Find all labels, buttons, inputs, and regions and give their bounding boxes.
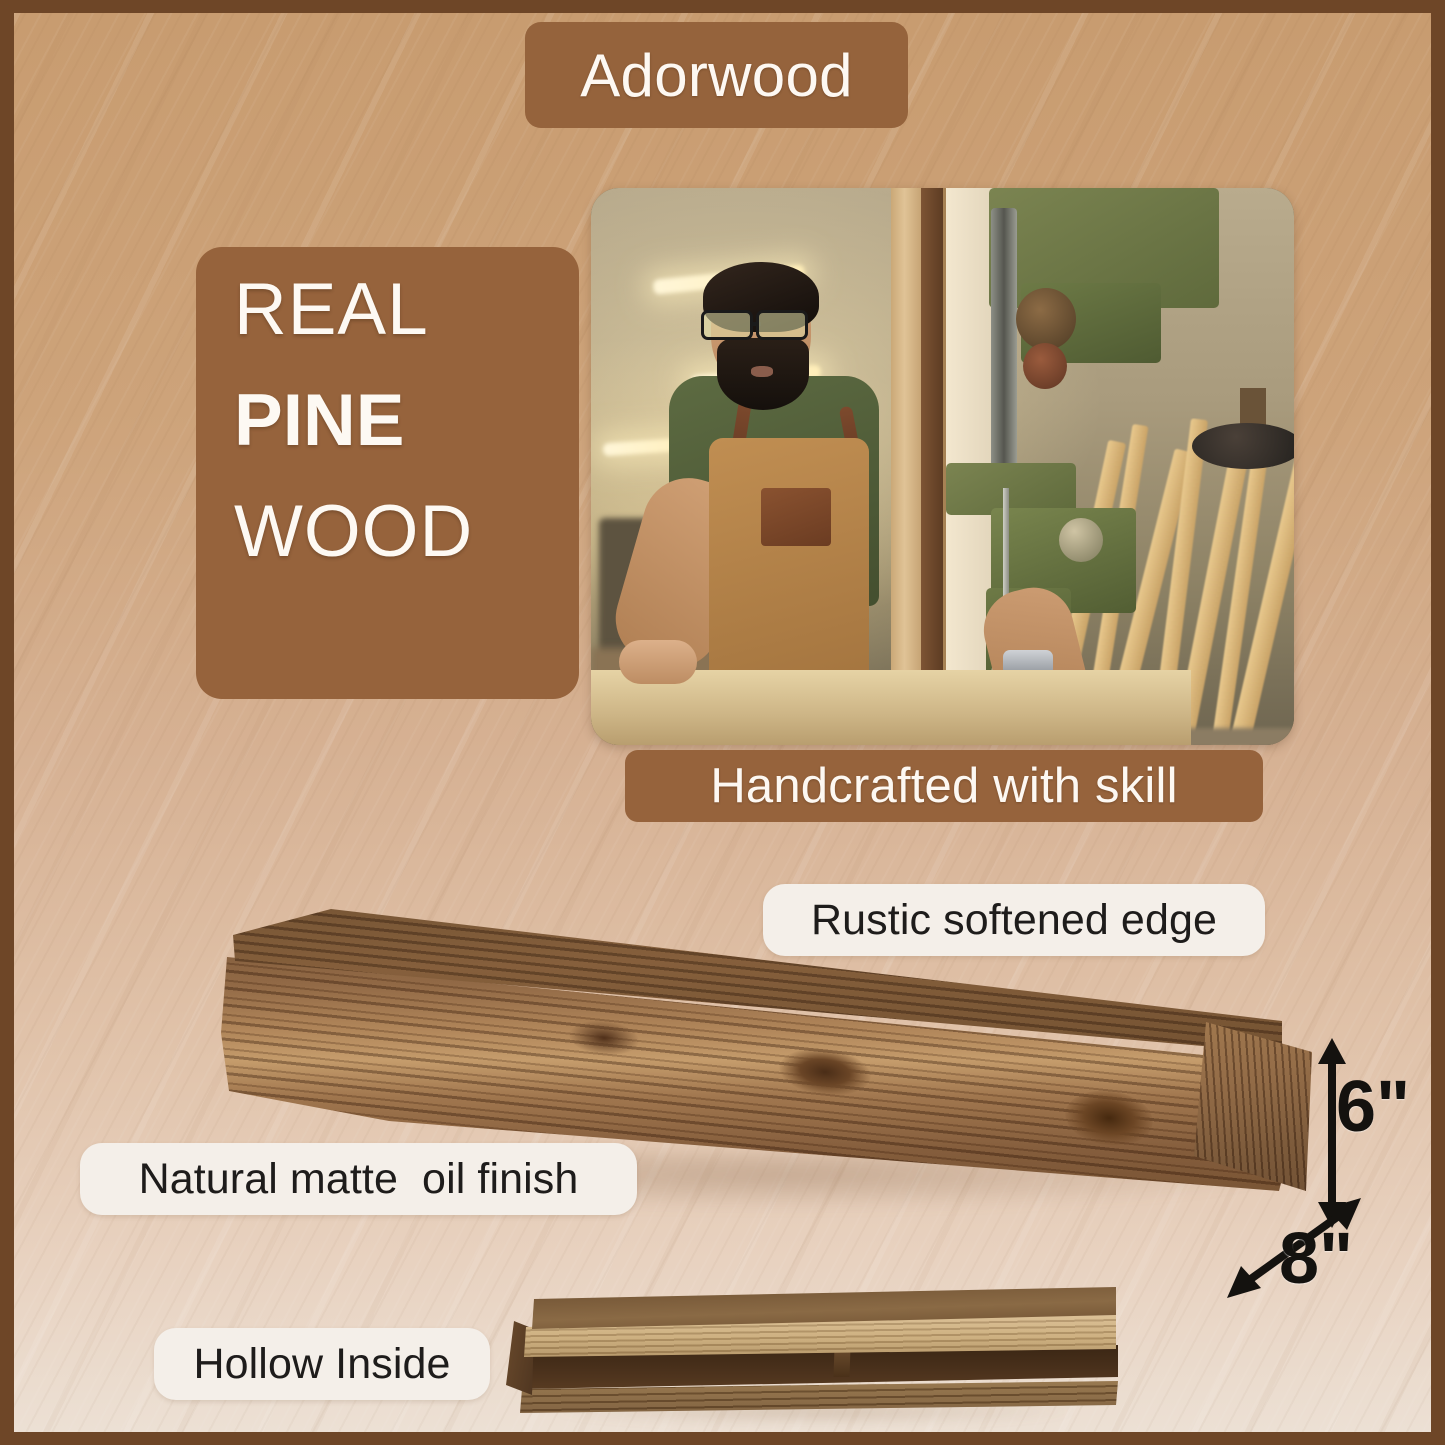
worker-mouth [751, 366, 773, 377]
feature-label-rustic-edge: Rustic softened edge [763, 884, 1265, 956]
headline-line-pine: PINE [234, 384, 579, 457]
worker-left-hand [619, 640, 697, 684]
headline-panel: REAL PINE WOOD [196, 247, 579, 699]
safety-glasses-icon [701, 310, 823, 340]
brand-badge: Adorwood [525, 22, 908, 128]
feature-label-text: Natural matte oil finish [139, 1155, 579, 1204]
dimension-label-height: 6" [1336, 1066, 1410, 1148]
feature-label-matte-finish: Natural matte oil finish [80, 1143, 637, 1215]
feature-label-text: Hollow Inside [193, 1340, 450, 1389]
feature-label-text: Rustic softened edge [811, 896, 1217, 945]
photo-caption: Handcrafted with skill [625, 750, 1263, 822]
headline-line-wood: WOOD [234, 495, 579, 568]
photo-caption-text: Handcrafted with skill [710, 758, 1177, 814]
workshop-photo [591, 188, 1294, 745]
brand-name: Adorwood [580, 41, 853, 110]
bandsaw-wheel [1192, 423, 1294, 469]
saw-column-inlay [921, 188, 943, 745]
infographic-canvas: Adorwood REAL PINE WOOD [0, 0, 1445, 1445]
bandsaw-shaft [991, 208, 1017, 498]
adjustment-knob-icon [1059, 518, 1103, 562]
feature-label-hollow-inside: Hollow Inside [154, 1328, 490, 1400]
bandsaw-pulley [1016, 288, 1076, 350]
dimension-label-depth: 8" [1279, 1218, 1353, 1300]
apron-pocket [761, 488, 831, 546]
hollow-shelf-image [504, 1285, 1120, 1425]
bandsaw-pulley-small [1023, 343, 1067, 389]
headline-line-real: REAL [234, 273, 579, 346]
dimension-annotations: 6" 8" [1274, 1018, 1445, 1288]
